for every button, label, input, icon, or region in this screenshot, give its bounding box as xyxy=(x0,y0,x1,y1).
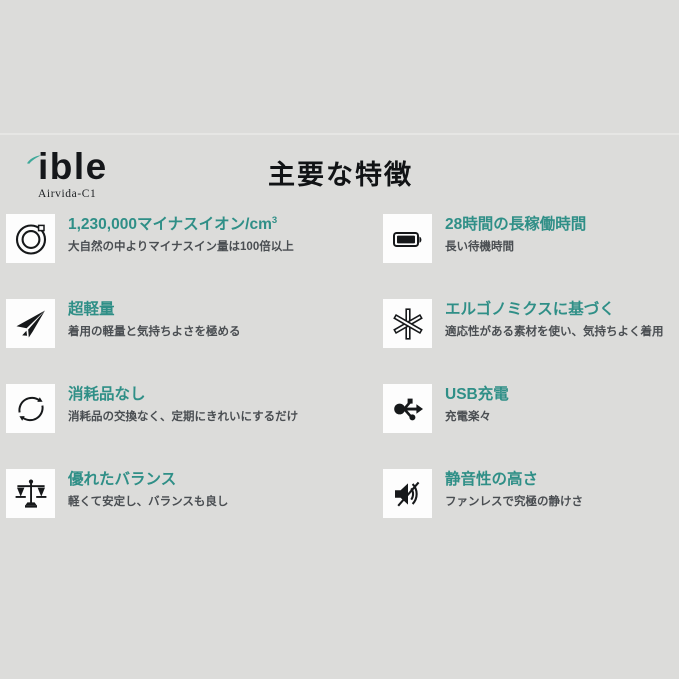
feature-text: 28時間の長稼働時間 長い待機時間 xyxy=(432,213,586,255)
panel-header: ible Airvida-C1 主要な特徴 xyxy=(0,135,679,210)
brand-wordmark: ible xyxy=(26,148,176,185)
feature-panel-content: ible Airvida-C1 主要な特徴 1,230,000マイナスイオン/c… xyxy=(0,135,679,545)
feature-item: USB充電 充電楽々 xyxy=(375,383,679,468)
feature-title: 優れたバランス xyxy=(68,470,228,490)
icon-tile xyxy=(383,299,432,348)
feature-item: 静音性の高さ ファンレスで究極の静けさ xyxy=(375,468,679,553)
feature-description: 長い待機時間 xyxy=(445,240,586,255)
feature-text: 超軽量 着用の軽量と気持ちよさを極める xyxy=(55,298,241,340)
feature-item: エルゴノミクスに基づく 適応性がある素材を使い、気持ちよく着用 xyxy=(375,298,679,383)
feature-text: 消耗品なし 消耗品の交換なく、定期にきれいにするだけ xyxy=(55,383,298,425)
feature-title-superscript: 3 xyxy=(272,215,277,226)
feature-text: エルゴノミクスに基づく 適応性がある素材を使い、気持ちよく着用 xyxy=(432,298,664,340)
icon-tile xyxy=(383,469,432,518)
icon-tile xyxy=(6,384,55,433)
icon-tile xyxy=(383,384,432,433)
feature-text: USB充電 充電楽々 xyxy=(432,383,509,425)
feature-text: 1,230,000マイナスイオン/cm3 大自然の中よりマイナスイン量は100倍… xyxy=(55,213,294,255)
battery-full-icon xyxy=(392,223,424,255)
feature-item: 優れたバランス 軽くて安定し、バランスも良し xyxy=(0,468,375,553)
leaf-icon xyxy=(26,155,42,164)
recycle-arrows-icon xyxy=(14,392,48,426)
feature-grid: 1,230,000マイナスイオン/cm3 大自然の中よりマイナスイン量は100倍… xyxy=(0,213,679,553)
feature-description: 消耗品の交換なく、定期にきれいにするだけ xyxy=(68,410,298,425)
feature-title: 1,230,000マイナスイオン/cm3 xyxy=(68,215,294,235)
brand-model-name: Airvida-C1 xyxy=(26,188,176,200)
anion-circle-icon xyxy=(14,222,48,256)
feature-item: 消耗品なし 消耗品の交換なく、定期にきれいにするだけ xyxy=(0,383,375,468)
usb-icon xyxy=(392,393,424,425)
icon-tile xyxy=(383,214,432,263)
feature-description: 軽くて安定し、バランスも良し xyxy=(68,495,228,510)
icon-tile xyxy=(6,469,55,518)
feature-title: 28時間の長稼働時間 xyxy=(445,215,586,235)
asterisk-star-icon xyxy=(391,307,425,341)
feature-description: 充電楽々 xyxy=(445,410,509,425)
feature-item: 超軽量 着用の軽量と気持ちよさを極める xyxy=(0,298,375,383)
page-title: 主要な特徴 xyxy=(268,153,413,192)
feature-title: 超軽量 xyxy=(68,300,241,320)
feature-title: エルゴノミクスに基づく xyxy=(445,300,664,320)
speaker-mute-icon xyxy=(392,478,424,510)
feature-text: 優れたバランス 軽くて安定し、バランスも良し xyxy=(55,468,228,510)
icon-tile xyxy=(6,299,55,348)
feature-item: 28時間の長稼働時間 長い待機時間 xyxy=(375,213,679,298)
feature-description: 着用の軽量と気持ちよさを極める xyxy=(68,325,241,340)
paper-plane-icon xyxy=(14,307,48,341)
balance-scale-icon xyxy=(14,477,48,511)
feature-description: ファンレスで究極の静けさ xyxy=(445,495,583,510)
brand-word-text: ible xyxy=(38,146,108,187)
feature-title-main: 1,230,000マイナスイオン/cm xyxy=(68,216,272,233)
feature-title: 消耗品なし xyxy=(68,385,298,405)
feature-title: USB充電 xyxy=(445,385,509,405)
feature-title: 静音性の高さ xyxy=(445,470,583,490)
feature-text: 静音性の高さ ファンレスで究極の静けさ xyxy=(432,468,583,510)
brand-logo: ible Airvida-C1 xyxy=(26,148,176,200)
feature-description: 適応性がある素材を使い、気持ちよく着用 xyxy=(445,325,664,340)
icon-tile xyxy=(6,214,55,263)
product-feature-panel: ible Airvida-C1 主要な特徴 1,230,000マイナスイオン/c… xyxy=(0,0,679,679)
feature-item: 1,230,000マイナスイオン/cm3 大自然の中よりマイナスイン量は100倍… xyxy=(0,213,375,298)
feature-description: 大自然の中よりマイナスイン量は100倍以上 xyxy=(68,240,294,255)
